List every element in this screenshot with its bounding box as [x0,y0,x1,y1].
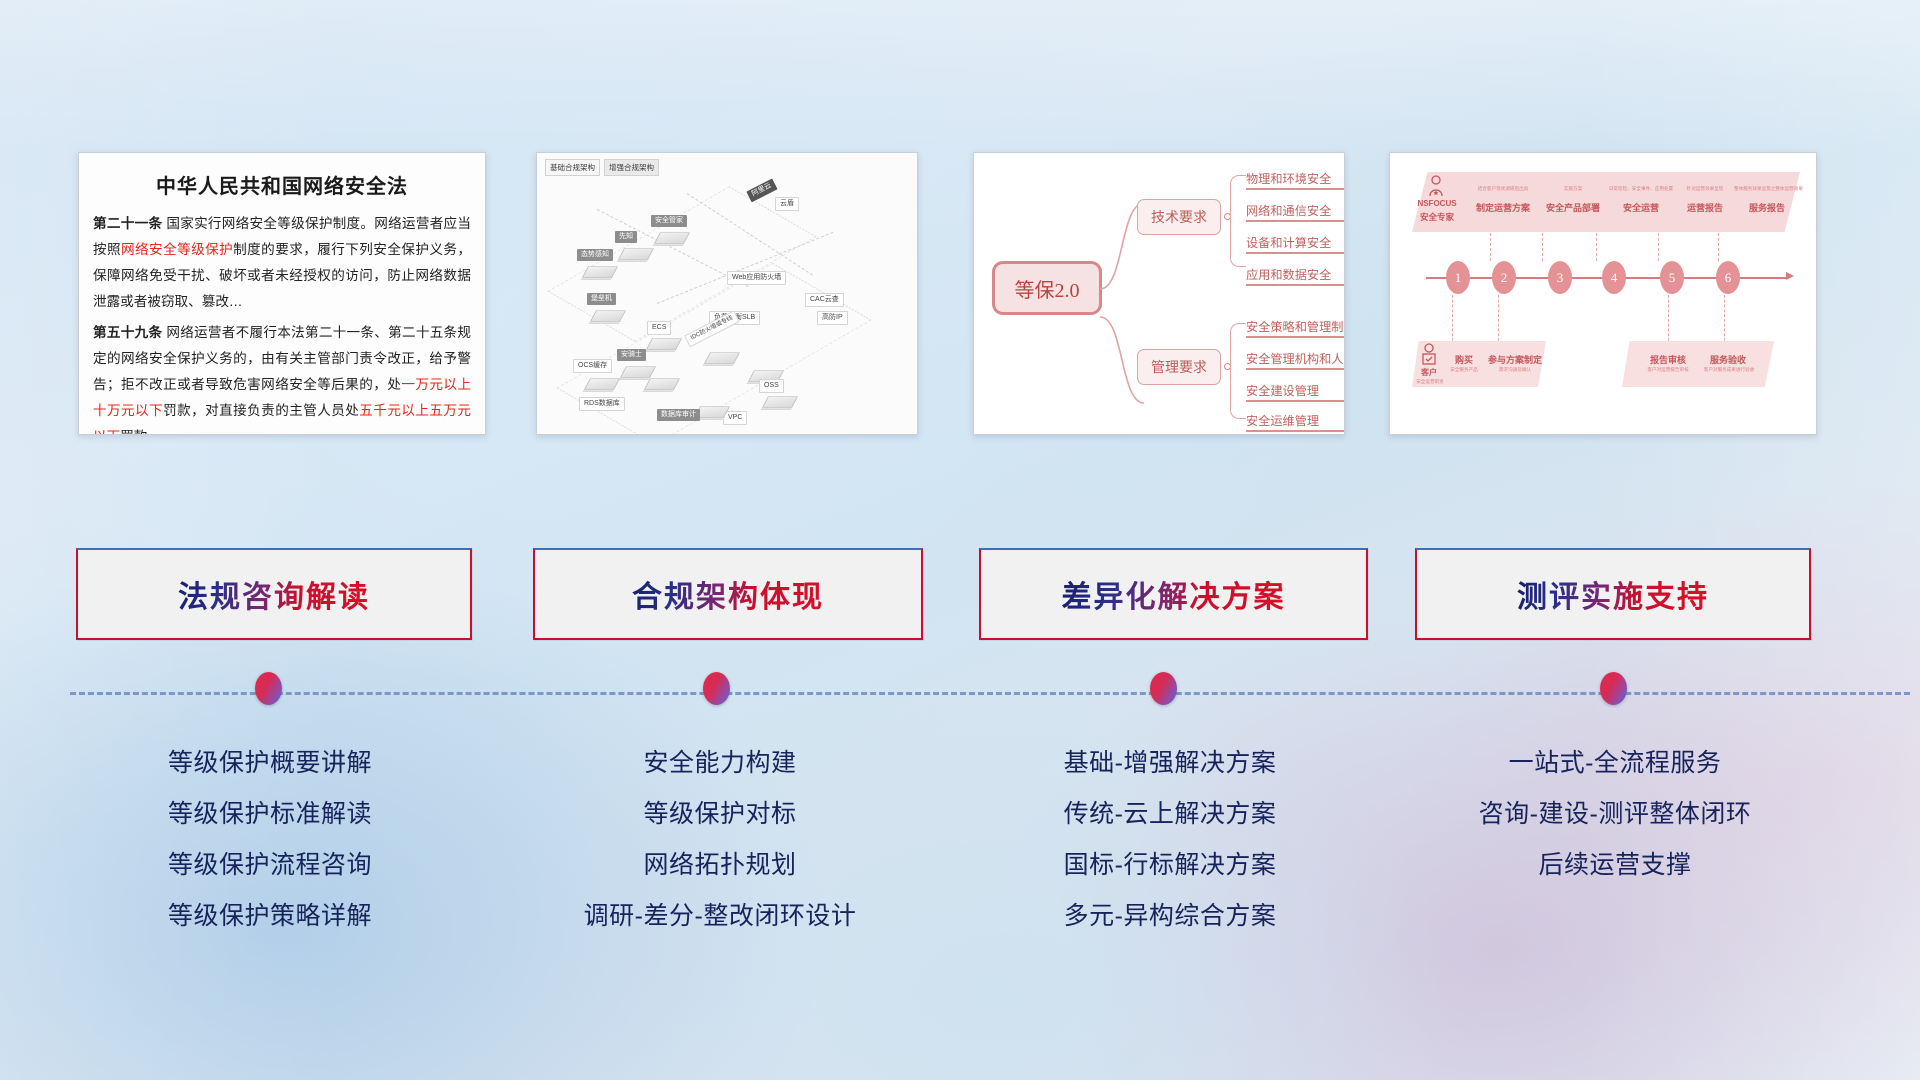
icon-box-xianzhi [618,248,654,259]
nsfocus-axis-arrow [1786,272,1794,280]
nsfocus-tick-b2 [1498,295,1499,341]
article-59-label: 第五十九条 [93,325,162,340]
article-21-label: 第二十一条 [93,216,162,231]
list-item: 调研-差分-整改闭环设计 [510,891,930,942]
node-xianzhi: 先知 [615,231,637,243]
card-compliance-architecture: 基础合规架构 增强合规架构 阿里云 安全管家 先知 态势感知 堡垒机 云盾 EC… [536,152,918,435]
mindmap: 等保2.0 技术要求 物理和环境安全 网络和通信安全 设备和计算安全 应用和数据… [974,153,1344,434]
law-article-59: 第五十九条 网络运营者不履行本法第二十一条、第二十五条规定的网络安全保护义务的，… [93,320,471,435]
customer-person-icon [1420,343,1438,365]
list-item: 等级保护对标 [510,789,930,840]
node-rds: RDS数据库 [579,397,625,411]
law-body: 第二十一条 国家实行网络安全等级保护制度。网络运营者应当按照网络安全等级保护制度… [79,211,485,435]
article-21-highlight: 网络安全等级保护 [121,242,233,257]
nsfocus-tick-3 [1596,233,1597,261]
nsfocus-top-sub-3: 日常巡检、安全事件、应用处置 [1604,186,1678,192]
bullet-column-3: 基础-增强解决方案 传统-云上解决方案 国标-行标解决方案 多元-异构综合方案 [960,738,1380,942]
expert-person-icon [1426,175,1446,197]
list-item: 等级保护标准解读 [60,789,480,840]
nsfocus-customer-sub: 安全运营职责 [1408,379,1452,385]
timeline-dot-1 [255,672,282,705]
nsfocus-step-node-5: 5 [1660,261,1684,294]
icon-box-generic-2 [704,352,740,363]
mindmap-root-node: 等保2.0 [992,261,1102,315]
heading-label-2: 合规架构体现 [632,572,824,616]
node-cac: CAC云查 [805,293,844,307]
nsfocus-step-node-2: 2 [1492,261,1516,294]
nsfocus-top-sub-5: 整体服务效果呈现之整体运营效果 [1734,186,1800,192]
nsfocus-bottom-main-4: 服务验收 [1702,353,1754,366]
tab-enhanced-architecture[interactable]: 增强合规架构 [604,159,659,176]
card-mindmap-dengbao: 等保2.0 技术要求 物理和环境安全 网络和通信安全 设备和计算安全 应用和数据… [973,152,1345,435]
nsfocus-bottom-sub-2: 需求沟通及确认 [1484,367,1546,373]
node-ecs: ECS [647,321,671,335]
node-waf: Web应用防火墙 [727,271,786,285]
node-anqishi: 安骑士 [617,349,646,361]
mindmap-leaf-application: 应用和数据安全 [1246,265,1345,286]
bullet-column-4: 一站式-全流程服务 咨询-建设-测评整体闭环 后续运营支撑 [1405,738,1825,891]
architecture-diagram: 基础合规架构 增强合规架构 阿里云 安全管家 先知 态势感知 堡垒机 云盾 EC… [537,153,917,434]
node-security-butler: 安全管家 [651,215,687,227]
nsfocus-top-sub-1: 结合客户现状调研后出具 [1468,186,1538,192]
list-item: 安全能力构建 [510,738,930,789]
heading-box-regulation-consulting[interactable]: 法规咨询解读 [76,548,472,640]
nsfocus-top-main-3: 安全运营 [1604,201,1678,214]
tab-basic-architecture[interactable]: 基础合规架构 [545,159,600,176]
nsfocus-step-node-1: 1 [1446,261,1470,294]
list-item: 一站式-全流程服务 [1405,738,1825,789]
node-db-audit: 数据库审计 [657,409,700,421]
heading-label-4: 测评实施支持 [1517,572,1709,616]
law-title: 中华人民共和国网络安全法 [79,170,485,199]
nsfocus-top-main-4: 运营报告 [1674,201,1736,214]
nsfocus-top-main-5: 服务报告 [1734,201,1800,214]
list-item: 多元-异构综合方案 [960,891,1380,942]
nsfocus-step-node-6: 6 [1716,261,1740,294]
node-ocs-cache: OCS缓存 [573,359,612,373]
heading-label-1: 法规咨询解读 [178,572,370,616]
node-situational-awareness: 态势感知 [577,249,613,261]
nsfocus-top-main-1: 制定运营方案 [1468,201,1538,214]
node-oss: OSS [759,379,784,393]
node-aliyun: 阿里云 [746,178,777,202]
list-item: 网络拓扑规划 [510,840,930,891]
nsfocus-bottom-sub-4: 客户对服务成果进行验收 [1692,367,1766,373]
timeline-dot-3 [1150,672,1177,705]
mindmap-leaf-policy: 安全策略和管理制度 [1246,317,1345,338]
mindmap-leaf-network: 网络和通信安全 [1246,201,1345,222]
node-vpc: VPC [723,411,747,425]
nsfocus-bottom-main-2: 参与方案制定 [1484,353,1546,366]
node-bastion-host: 堡垒机 [587,293,616,305]
mindmap-branch-technical: 技术要求 [1137,199,1221,235]
article-59-text-c: 罚款。 [120,429,161,435]
mindmap-leaf-device: 设备和计算安全 [1246,233,1345,254]
mindmap-leaf-org: 安全管理机构和人员 [1246,349,1345,370]
nsfocus-step-node-3: 3 [1548,261,1572,294]
nsfocus-bottom-main-1: 购买 [1446,353,1482,366]
icon-box-butler [654,232,690,243]
mindmap-leaf-physical: 物理和环境安全 [1246,169,1345,190]
icon-box-generic-1 [644,378,680,389]
list-item: 基础-增强解决方案 [960,738,1380,789]
nsfocus-top-sub-2: 实施方案 [1538,186,1608,192]
article-59-text-b: 罚款，对直接负责的主管人员处 [163,403,359,418]
list-item: 等级保护概要讲解 [60,738,480,789]
nsfocus-tick-2 [1542,233,1543,261]
card-cybersecurity-law: 中华人民共和国网络安全法 第二十一条 国家实行网络安全等级保护制度。网络运营者应… [78,152,486,435]
nsfocus-step-node-4: 4 [1602,261,1626,294]
nsfocus-tick-4 [1658,233,1659,261]
nsfocus-tick-b1 [1452,295,1453,341]
mindmap-connector-mgmt [1230,323,1246,419]
nsfocus-tick-b4 [1724,295,1725,341]
node-gaofang-ip: 高防IP [817,311,848,325]
list-item: 咨询-建设-测评整体闭环 [1405,789,1825,840]
list-item: 等级保护流程咨询 [60,840,480,891]
nsfocus-brand-line2: 安全专家 [1410,211,1464,223]
icon-box-anqishi [620,366,656,377]
nsfocus-tick-5 [1718,233,1719,261]
architecture-tabs: 基础合规架构 增强合规架构 [545,159,659,176]
heading-box-differentiated-solution[interactable]: 差异化解决方案 [979,548,1368,640]
icon-box-bastion [590,310,626,321]
bullet-column-1: 等级保护概要讲解 等级保护标准解读 等级保护流程咨询 等级保护策略详解 [60,738,480,942]
list-item: 后续运营支撑 [1405,840,1825,891]
mindmap-leaf-construction: 安全建设管理 [1246,381,1345,402]
heading-box-assessment-support[interactable]: 测评实施支持 [1415,548,1811,640]
nsfocus-diagram: NSFOCUS 安全专家 结合客户现状调研后出具 制定运营方案 实施方案 安全产… [1390,153,1816,434]
nsfocus-top-main-2: 安全产品部署 [1538,201,1608,214]
nsfocus-tick-b3 [1668,295,1669,341]
nsfocus-bottom-main-3: 报告审核 [1642,353,1694,366]
timeline-dot-4 [1600,672,1627,705]
heading-label-3: 差异化解决方案 [1062,572,1286,616]
list-item: 等级保护策略详解 [60,891,480,942]
bullet-column-2: 安全能力构建 等级保护对标 网络拓扑规划 调研-差分-整改闭环设计 [510,738,930,942]
node-yundun: 云盾 [775,197,799,211]
timeline-dot-2 [703,672,730,705]
nsfocus-tick-1 [1490,233,1491,261]
timeline-dashed-line [70,692,1910,695]
list-item: 传统-云上解决方案 [960,789,1380,840]
heading-box-compliance-architecture[interactable]: 合规架构体现 [533,548,923,640]
list-item: 国标-行标解决方案 [960,840,1380,891]
mindmap-leaf-operation: 安全运维管理 [1246,411,1345,432]
card-nsfocus-timeline: NSFOCUS 安全专家 结合客户现状调研后出具 制定运营方案 实施方案 安全产… [1389,152,1817,435]
mindmap-branch-management: 管理要求 [1137,349,1221,385]
nsfocus-bottom-sub-1: 安全服务产品 [1440,367,1488,373]
icon-box-ocs [584,378,620,389]
law-article-21: 第二十一条 国家实行网络安全等级保护制度。网络运营者应当按照网络安全等级保护制度… [93,211,471,315]
nsfocus-top-sub-4: 针对运营效果呈现 [1674,186,1736,192]
mindmap-connector-tech [1230,175,1246,267]
icon-box-ecs [646,338,682,349]
icon-box-sa [582,266,618,277]
nsfocus-brand-line1: NSFOCUS [1410,199,1464,208]
icon-box-oss [762,396,798,407]
